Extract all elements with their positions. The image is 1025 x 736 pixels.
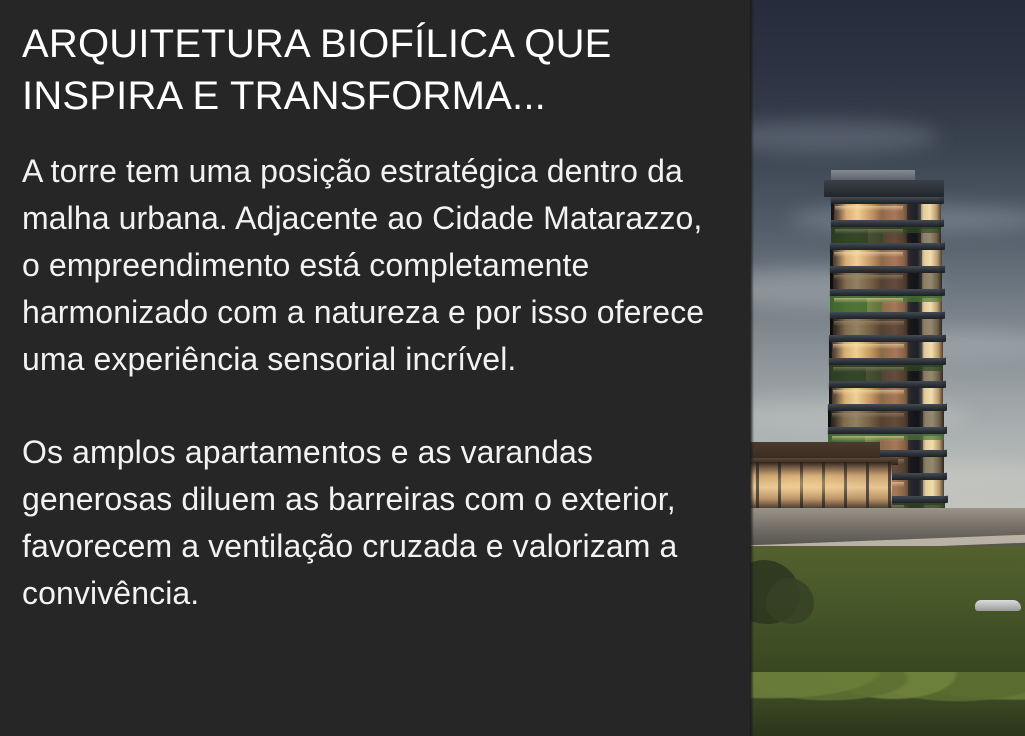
balcony-bay [830,296,942,312]
panel-seam [750,0,754,736]
tower-floor [830,289,942,312]
balcony-bay [829,365,943,381]
floor-slab [828,404,943,411]
tower-floor [828,404,943,427]
tower-floor [829,381,944,404]
slide-root: ARQUITETURA BIOFÍLICA QUE INSPIRA E TRAN… [0,0,1025,736]
text-panel: ARQUITETURA BIOFÍLICA QUE INSPIRA E TRAN… [0,0,750,736]
floor-slab [829,381,944,388]
balcony-bay [829,388,944,404]
floor-slab [831,197,941,204]
tower-floor [831,220,942,243]
lobby-light-glow [750,470,874,498]
body-paragraph-2: Os amplos apartamentos e as varandas gen… [22,429,728,617]
floor-slab [829,335,942,342]
tower-floor [830,266,942,289]
tree [766,578,814,624]
body-paragraph-1: A torre tem uma posição estratégica dent… [22,148,728,383]
floor-slab [830,243,941,250]
balcony-bay [830,273,942,289]
balcony-bay [831,227,942,243]
foreground-hedge [750,672,1025,736]
tower-floor [829,335,942,358]
page-title: ARQUITETURA BIOFÍLICA QUE INSPIRA E TRAN… [22,18,728,122]
tower-cap [824,180,944,197]
balcony-bay [830,319,943,335]
tower-rendering-image [750,0,1025,736]
floor-slab [830,289,942,296]
floor-slab [830,312,943,319]
floor-slab [829,358,943,365]
floor-slab [830,266,942,273]
tower-floor [829,358,943,381]
balcony-bay [830,250,941,266]
floor-slab [828,427,944,434]
balcony-bay [831,204,941,220]
balcony-bay [828,411,943,427]
tower-floor [830,243,941,266]
floor-slab [831,220,942,227]
parked-car [975,600,1021,611]
tower-floor [831,197,941,220]
balcony-bay [829,342,942,358]
tower-floor [830,312,943,335]
